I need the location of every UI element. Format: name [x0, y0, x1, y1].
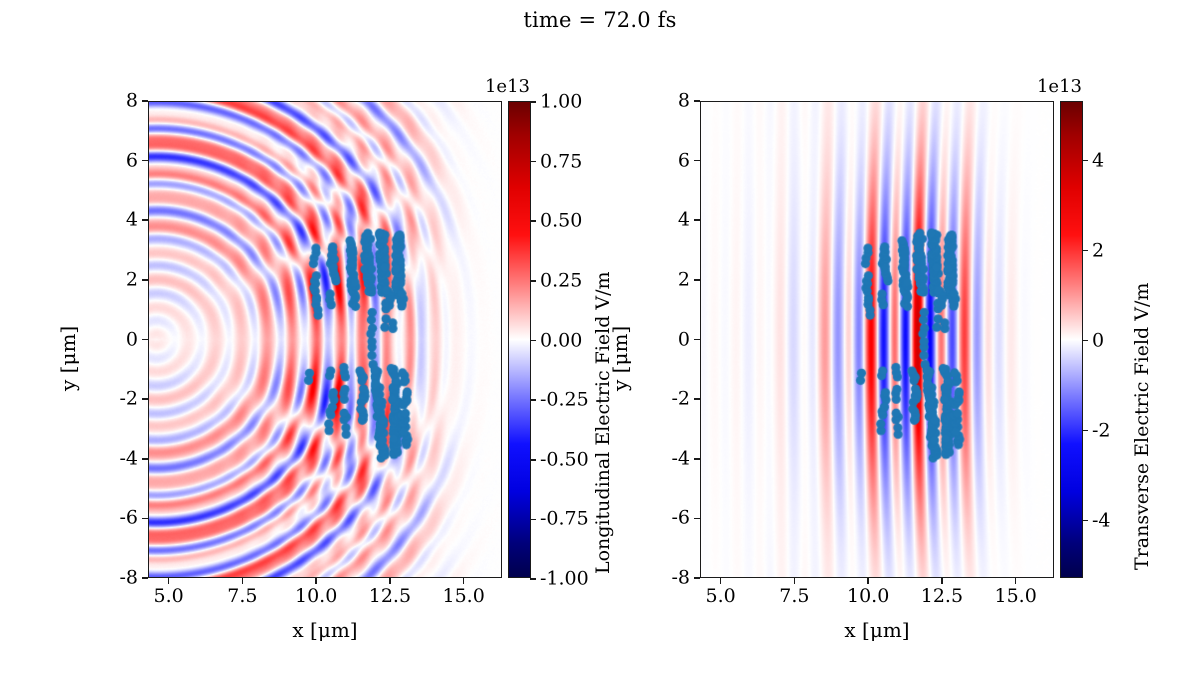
x-tick-label: 12.5: [921, 587, 963, 606]
x-tick-mark: [315, 578, 317, 584]
y-tick-label: -8: [119, 569, 138, 588]
colorbar-tick-mark: [530, 161, 536, 163]
x-tick-label: 5.0: [706, 587, 736, 606]
x-tick-mark: [941, 578, 943, 584]
y-tick-mark: [694, 518, 700, 520]
colorbar-tick-label: 2: [1092, 241, 1104, 260]
x-tick-label: 10.0: [295, 587, 337, 606]
y-tick-label: -4: [119, 449, 138, 468]
y-axis-ticks-left: 86420-2-4-6-8: [148, 101, 502, 578]
y-tick-mark: [142, 160, 148, 162]
colorbar-ticks-longitudinal: 1.000.750.500.250.00-0.25-0.50-0.75-1.00: [509, 102, 530, 577]
colorbar-tick-label: 0.50: [540, 212, 582, 231]
y-tick-label: 6: [678, 151, 690, 170]
y-tick-label: 6: [126, 151, 138, 170]
y-tick-label: 8: [126, 92, 138, 111]
y-tick-mark: [694, 279, 700, 281]
x-tick-mark: [463, 578, 465, 584]
y-tick-mark: [694, 458, 700, 460]
colorbar-tick-label: 0.25: [540, 271, 582, 290]
colorbar-tick-mark: [530, 340, 536, 342]
y-tick-mark: [142, 339, 148, 341]
y-tick-mark: [142, 518, 148, 520]
y-tick-mark: [142, 279, 148, 281]
x-axis-label-left: x [μm]: [148, 618, 502, 642]
x-tick-label: 10.0: [847, 587, 889, 606]
y-tick-label: -6: [671, 509, 690, 528]
colorbar-label-transverse: Transverse Electric Field V/m: [1131, 283, 1153, 570]
y-tick-mark: [142, 398, 148, 400]
colorbar-tick-label: 0.75: [540, 152, 582, 171]
y-tick-mark: [694, 577, 700, 579]
colorbar-tick-mark: [530, 101, 536, 103]
x-tick-label: 15.0: [994, 587, 1036, 606]
y-tick-mark: [142, 577, 148, 579]
colorbar-tick-label: 4: [1092, 151, 1104, 170]
y-tick-mark: [694, 398, 700, 400]
x-tick-mark: [794, 578, 796, 584]
y-tick-label: 4: [678, 211, 690, 230]
y-tick-mark: [142, 100, 148, 102]
colorbar-offset-text-transverse: 1e13: [1037, 76, 1082, 97]
x-tick-mark: [389, 578, 391, 584]
colorbar-tick-label: -2: [1092, 421, 1111, 440]
colorbar-tick-mark: [1082, 520, 1088, 522]
colorbar-tick-mark: [1082, 430, 1088, 432]
x-tick-label: 15.0: [442, 587, 484, 606]
colorbar-tick-label: 0: [1092, 331, 1104, 350]
colorbar-tick-label: -1.00: [540, 570, 589, 589]
colorbar-tick-mark: [530, 519, 536, 521]
colorbar-transverse[interactable]: 1e13 420-2-4 Transverse Electric Field V…: [1060, 101, 1083, 578]
y-tick-mark: [694, 160, 700, 162]
y-tick-label: 2: [678, 270, 690, 289]
y-tick-label: 8: [678, 92, 690, 111]
y-tick-label: -8: [671, 569, 690, 588]
y-tick-label: -2: [671, 390, 690, 409]
x-tick-mark: [867, 578, 869, 584]
x-tick-label: 12.5: [369, 587, 411, 606]
y-axis-ticks-right: 86420-2-4-6-8: [700, 101, 1054, 578]
colorbar-tick-mark: [530, 280, 536, 282]
x-axis-label-right: x [μm]: [700, 618, 1054, 642]
colorbar-ticks-transverse: 420-2-4: [1061, 102, 1082, 577]
x-tick-mark: [242, 578, 244, 584]
y-tick-mark: [142, 219, 148, 221]
y-tick-mark: [694, 339, 700, 341]
x-tick-label: 7.5: [227, 587, 257, 606]
figure-title: time = 72.0 fs: [0, 8, 1200, 32]
y-tick-mark: [694, 100, 700, 102]
x-tick-mark: [1015, 578, 1017, 584]
colorbar-label-longitudinal: Longitudinal Electric Field V/m: [592, 271, 614, 574]
x-tick-label: 7.5: [779, 587, 809, 606]
colorbar-tick-label: -0.75: [540, 510, 589, 529]
colorbar-offset-text-longitudinal: 1e13: [485, 76, 530, 97]
colorbar-tick-mark: [1082, 250, 1088, 252]
colorbar-tick-mark: [1082, 340, 1088, 342]
colorbar-tick-label: -0.25: [540, 391, 589, 410]
colorbar-tick-mark: [530, 459, 536, 461]
y-axis-label-left: y [μm]: [56, 326, 80, 391]
colorbar-tick-mark: [1082, 160, 1088, 162]
colorbar-tick-mark: [530, 399, 536, 401]
x-tick-mark: [168, 578, 170, 584]
y-tick-label: 0: [678, 330, 690, 349]
colorbar-tick-label: 1.00: [540, 93, 582, 112]
y-axis-label-right: y [μm]: [608, 326, 632, 391]
colorbar-tick-label: -0.50: [540, 450, 589, 469]
y-tick-label: 2: [126, 270, 138, 289]
colorbar-tick-mark: [530, 220, 536, 222]
colorbar-tick-label: 0.00: [540, 331, 582, 350]
y-tick-label: -4: [671, 449, 690, 468]
y-tick-mark: [694, 219, 700, 221]
y-tick-label: -2: [119, 390, 138, 409]
y-tick-label: 4: [126, 211, 138, 230]
x-tick-mark: [720, 578, 722, 584]
colorbar-tick-label: -4: [1092, 511, 1111, 530]
colorbar-longitudinal[interactable]: 1e13 1.000.750.500.250.00-0.25-0.50-0.75…: [508, 101, 531, 578]
y-tick-mark: [142, 458, 148, 460]
y-tick-label: -6: [119, 509, 138, 528]
x-tick-label: 5.0: [154, 587, 184, 606]
y-tick-label: 0: [126, 330, 138, 349]
colorbar-tick-mark: [530, 578, 536, 580]
